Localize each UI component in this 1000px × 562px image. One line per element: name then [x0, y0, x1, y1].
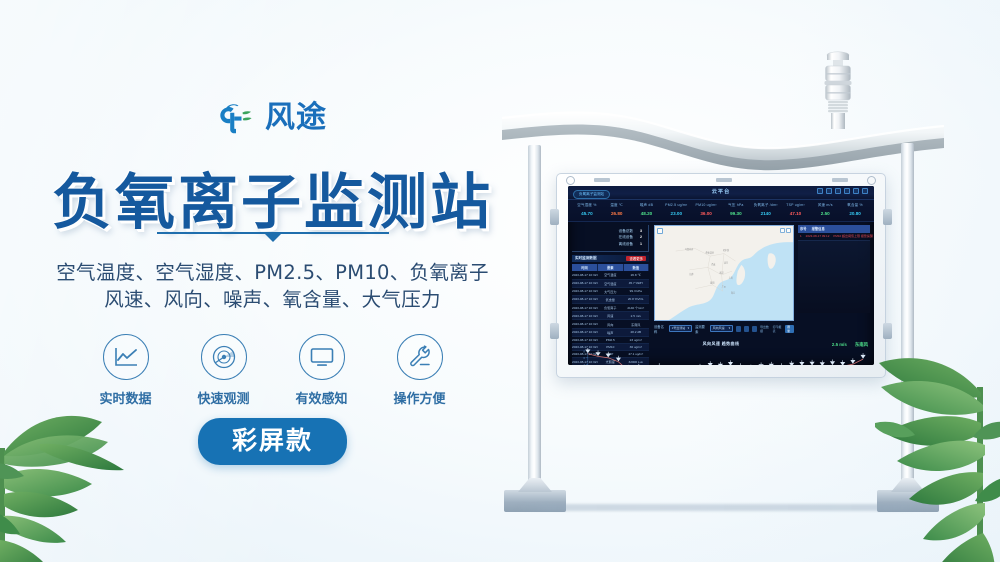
column-header: 数值	[623, 264, 649, 272]
map-controls[interactable]	[780, 228, 792, 233]
divider-triangle-icon	[264, 233, 282, 242]
ground-shadow	[514, 504, 934, 511]
metric-value: 2140	[751, 209, 781, 218]
table-cell: 2023-08-17 10:32:07	[572, 271, 598, 279]
radar-scan-icon	[201, 334, 247, 380]
table-cell: 2023-08-17 10:32:07	[572, 295, 598, 303]
feature-2[interactable]: 快速观测	[193, 334, 255, 407]
factor-select[interactable]: 风向风速 ▾	[710, 325, 734, 332]
device-stat-row: 离线设备1	[572, 241, 642, 247]
metric-value: 23.00	[661, 209, 691, 218]
table-cell: 负氧离子	[598, 304, 624, 312]
alert-empty-area	[798, 241, 870, 313]
monitoring-station-kiosk: 负氧离子监测站 云平台 空气湿度 %45.70温度 ℃26.80噪声 dB48.…	[500, 40, 960, 530]
table-row[interactable]: 2023-08-17 10:32:07风速2.5 m/s	[572, 312, 649, 320]
svg-text:6: 6	[584, 357, 586, 360]
device-select[interactable]: 1号监测站 ▾	[669, 325, 693, 332]
metric-label: 空气湿度 %	[572, 202, 602, 209]
map-icon[interactable]	[835, 188, 841, 194]
chart-title: 风向风速 趋势曲线	[568, 341, 874, 347]
metric-card-10[interactable]: 氧含量 %20.80	[840, 202, 870, 221]
data-panel-bar: 实时监测数据 查看更多	[572, 255, 649, 262]
table-cell: 2023-08-17 10:32:07	[572, 312, 598, 320]
metric-label: 噪声 dB	[632, 202, 662, 209]
table-cell: 2023-08-17 10:32:07	[572, 320, 598, 328]
metric-card-4[interactable]: PM2.5 ug/m³23.00	[661, 202, 691, 221]
metric-card-3[interactable]: 噪声 dB48.20	[632, 202, 662, 221]
metric-label: 风速 m/s	[810, 202, 840, 209]
metric-label: 负氧离子 /dm³	[751, 202, 781, 209]
table-row[interactable]: 2023-08-17 10:32:07空气温度26.8 ℃	[572, 271, 649, 279]
table-cell: 东南风	[623, 320, 649, 328]
header-icon-group[interactable]	[817, 188, 868, 194]
device-select-label: 设备名称	[654, 324, 666, 334]
table-cell: 99.3 kPa	[623, 287, 649, 295]
subtitle-line-1: 空气温度、空气湿度、PM2.5、PM10、负氧离子	[0, 259, 545, 286]
table-header-row: 时间要素数值	[572, 264, 649, 272]
chevron-down-icon: ▾	[729, 325, 731, 332]
table-cell: 风向	[598, 320, 624, 328]
map-zoom-out-icon[interactable]	[786, 228, 791, 233]
metric-value: 47.10	[781, 209, 811, 218]
table-cell: 大气压力	[598, 287, 624, 295]
china-map[interactable]: 乌鲁木齐 呼和浩特 哈尔滨 西安 北京 武汉 上海 昆明 广州 拉萨	[654, 225, 794, 321]
alert-header: 序号 报警信息	[798, 225, 870, 233]
table-row[interactable]: 2023-08-17 10:32:07风向东南风	[572, 320, 649, 328]
metric-label: PM10 ug/m³	[691, 202, 721, 209]
table-row[interactable]: 2023-08-17 10:32:07氧含量20.8 %VOL	[572, 295, 649, 303]
alert-cell: 2023-08-17 09:12	[806, 234, 830, 238]
dashboard-body: 设备总数3在线设备2离线设备1 实时监测数据 查看更多 时间要素数值2023-0…	[568, 222, 874, 340]
table-cell: 空气湿度	[598, 279, 624, 287]
data-panel-title: 实时监测数据	[575, 256, 597, 261]
view-chart-icon[interactable]	[744, 326, 749, 332]
column-header: 时间	[572, 264, 598, 272]
chart-readout: 2.5 m/s 东南风	[832, 342, 868, 348]
metric-card-2[interactable]: 温度 ℃26.80	[602, 202, 632, 221]
table-cell: 2023-08-17 10:32:07	[572, 328, 598, 336]
ultrasonic-weather-sensor-icon	[820, 49, 856, 129]
refresh-button[interactable]: 刷新	[785, 325, 794, 333]
table-cell: 2023-08-17 10:32:07	[572, 287, 598, 295]
side-lug-top-right	[883, 209, 892, 225]
wrench-icon	[397, 334, 443, 380]
feature-list-text: 空气温度、空气湿度、PM2.5、PM10、负氧离子 风速、风向、噪声、氧含量、大…	[0, 259, 545, 313]
readout-speed: 2.5 m/s	[832, 342, 847, 348]
left-panel: 设备总数3在线设备2离线设备1 实时监测数据 查看更多 时间要素数值2023-0…	[568, 222, 652, 340]
table-row[interactable]: 2023-08-17 10:32:07噪声48.2 dB	[572, 328, 649, 336]
feature-label: 实时数据	[99, 388, 151, 407]
toolbar-actions: 导出数据 打印报表 刷新	[736, 325, 794, 333]
metric-label: 气压 hPa	[721, 202, 751, 209]
metric-value: 36.00	[691, 209, 721, 218]
line-chart-icon	[103, 334, 149, 380]
table-cell: 48.2 dB	[623, 328, 649, 336]
table-cell: 26.8 ℃	[623, 271, 649, 279]
metric-value: 20.80	[840, 209, 870, 218]
subtitle-line-2: 风速、风向、噪声、氧含量、大气压力	[0, 286, 545, 313]
model-badge-wrap: 彩屏款	[0, 418, 545, 465]
factor-select-label: 监测要素	[695, 324, 707, 334]
map-panel: 乌鲁木齐 呼和浩特 哈尔滨 西安 北京 武汉 上海 昆明 广州 拉萨	[652, 222, 796, 340]
mount-tab-3	[832, 178, 848, 182]
metric-label: 温度 ℃	[602, 202, 632, 209]
factor-select-value: 风向风速	[713, 325, 725, 332]
feature-3[interactable]: 有效感知	[291, 334, 353, 407]
chart-toolbar: 设备名称 1号监测站 ▾ 监测要素 风向风速 ▾	[654, 324, 794, 333]
table-cell: 风速	[598, 312, 624, 320]
metric-value: 48.20	[632, 209, 662, 218]
brand-name: 风途	[265, 103, 327, 133]
leaf-cloud-logo-icon	[218, 101, 258, 135]
metric-label: PM2.5 ug/m³	[661, 202, 691, 209]
alert-cell: PM10 超出阈值上限 报警提醒	[833, 234, 873, 238]
mount-tab-2	[716, 178, 732, 182]
user-icon[interactable]	[853, 188, 859, 194]
table-cell: 噪声	[598, 328, 624, 336]
table-row[interactable]: 2023-08-17 10:32:07大气压力99.3 kPa	[572, 287, 649, 295]
table-cell: 45.7 %RH	[623, 279, 649, 287]
map-zoom-in-icon[interactable]	[780, 228, 785, 233]
alert-col-index: 序号	[800, 226, 807, 231]
mount-tab-1	[594, 178, 610, 182]
export-label[interactable]: 导出数据	[760, 325, 770, 333]
feature-4[interactable]: 操作方便	[389, 334, 451, 407]
page-title: 负氧离子监测站	[0, 154, 545, 241]
trend-chart[interactable]: 风向风速 趋势曲线 2.5 m/s 东南风 0246800:0001:0002:…	[568, 340, 874, 365]
metric-value: 99.30	[721, 209, 751, 218]
feature-label: 有效感知	[295, 388, 347, 407]
metric-card-5[interactable]: PM10 ug/m³36.00	[691, 202, 721, 221]
view-grid-icon[interactable]	[752, 326, 757, 332]
feature-label: 操作方便	[393, 388, 445, 407]
feature-icons-row: 实时数据快速观测有效感知操作方便	[0, 334, 545, 407]
view-table-icon[interactable]	[736, 326, 741, 332]
print-label[interactable]: 打印报表	[773, 325, 783, 333]
metric-value: 2.50	[810, 209, 840, 218]
display-frame: 负氧离子监测站 云平台 空气湿度 %45.70温度 ℃26.80噪声 dB48.…	[556, 173, 886, 378]
table-row[interactable]: 2023-08-17 10:32:07空气湿度45.7 %RH	[572, 279, 649, 287]
metric-card-7[interactable]: 负氧离子 /dm³2140	[751, 202, 781, 221]
metric-card-9[interactable]: 风速 m/s2.50	[810, 202, 840, 221]
metric-label: TSP ug/m³	[781, 202, 811, 209]
svg-text:4: 4	[584, 364, 586, 365]
metric-card-6[interactable]: 气压 hPa99.30	[721, 202, 751, 221]
bell-icon[interactable]	[844, 188, 850, 194]
metric-card-1[interactable]: 空气湿度 %45.70	[572, 202, 602, 221]
alert-panel: 序号 报警信息 12023-08-17 09:12PM10 超出阈值上限 报警提…	[796, 222, 874, 340]
table-cell: 2023-08-17 10:32:07	[572, 304, 598, 312]
svg-text:8: 8	[584, 350, 586, 353]
side-lug-top-left	[550, 209, 559, 225]
table-row[interactable]: 2023-08-17 10:32:07负氧离子2140 个/cm³	[572, 304, 649, 312]
promo-content: 风途 负氧离子监测站 空气温度、空气湿度、PM2.5、PM10、负氧离子 风速、…	[0, 0, 545, 562]
mount-hook-left	[566, 176, 575, 185]
table-cell: 氧含量	[598, 295, 624, 303]
map-graphic: 乌鲁木齐 呼和浩特 哈尔滨 西安 北京 武汉 上海 昆明 广州 拉萨	[655, 226, 793, 320]
brand-logo: 风途	[0, 101, 545, 135]
device-stat-block: 设备总数3在线设备2离线设备1	[572, 225, 649, 252]
table-cell: 20.8 %VOL	[623, 295, 649, 303]
model-badge[interactable]: 彩屏款	[198, 418, 347, 465]
title-divider	[0, 232, 545, 242]
alert-cell: 1	[800, 234, 802, 238]
mount-hook-right	[867, 176, 876, 185]
column-header: 要素	[598, 264, 624, 272]
dashboard-header: 负氧离子监测站 云平台	[568, 186, 874, 200]
alert-col-message: 报警信息	[812, 226, 825, 231]
metric-value: 26.80	[602, 209, 632, 218]
data-panel-badge[interactable]: 查看更多	[626, 256, 646, 261]
side-lug-bottom-left	[550, 323, 559, 339]
alert-rows[interactable]: 12023-08-17 09:12PM10 超出阈值上限 报警提醒	[798, 233, 870, 241]
stat-value: 1	[640, 241, 642, 247]
settings-icon[interactable]	[862, 188, 868, 194]
kiosk-pole-right	[901, 143, 914, 497]
metric-card-8[interactable]: TSP ug/m³47.10	[781, 202, 811, 221]
table-cell: 2023-08-17 10:32:07	[572, 279, 598, 287]
metric-strip: 空气湿度 %45.70温度 ℃26.80噪声 dB48.20PM2.5 ug/m…	[568, 200, 874, 222]
wind-trend-line-chart: 0246800:0001:0002:0003:0004:0005:0006:00…	[572, 348, 869, 365]
side-lug-bottom-right	[883, 323, 892, 339]
alert-row[interactable]: 12023-08-17 09:12PM10 超出阈值上限 报警提醒	[798, 233, 870, 241]
chevron-down-icon: ▾	[688, 325, 690, 332]
promo-banner: 负氧离子监测站 云平台 空气湿度 %45.70温度 ℃26.80噪声 dB48.…	[0, 0, 1000, 562]
dashboard-screen[interactable]: 负氧离子监测站 云平台 空气湿度 %45.70温度 ℃26.80噪声 dB48.…	[568, 186, 874, 365]
grid-icon[interactable]	[817, 188, 823, 194]
monitor-screen-icon	[299, 334, 345, 380]
curved-canopy-icon	[498, 88, 948, 178]
metric-label: 氧含量 %	[840, 202, 870, 209]
readout-direction: 东南风	[855, 342, 868, 348]
table-cell: 2.5 m/s	[623, 312, 649, 320]
table-cell: 2140 个/cm³	[623, 304, 649, 312]
metric-value: 45.70	[572, 209, 602, 218]
feature-label: 快速观测	[197, 388, 249, 407]
stat-label: 离线设备	[619, 241, 633, 247]
map-layer-icon[interactable]	[657, 228, 663, 234]
feature-1[interactable]: 实时数据	[95, 334, 157, 407]
table-cell: 空气温度	[598, 271, 624, 279]
chart-icon[interactable]	[826, 188, 832, 194]
device-select-value: 1号监测站	[672, 325, 686, 332]
